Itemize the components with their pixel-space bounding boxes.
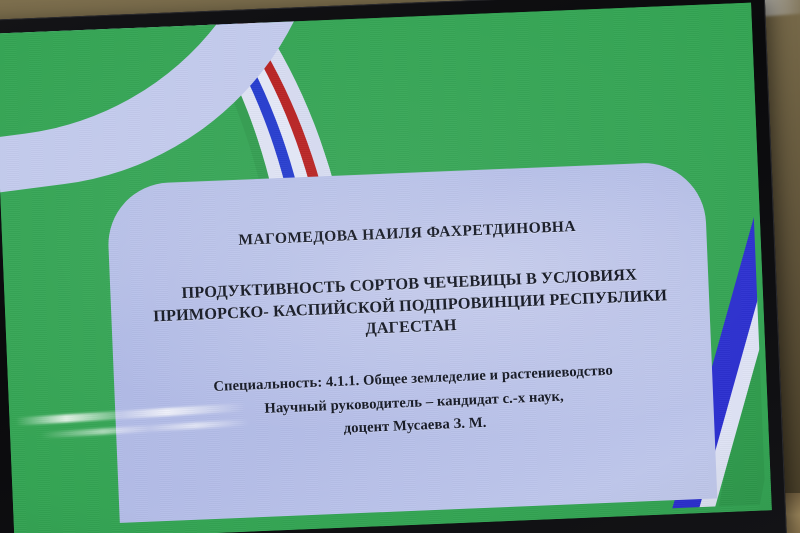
presentation-slide: МАГОМЕДОВА НАИЛЯ ФАХРЕТДИНОВНА ПРОДУКТИВ… <box>0 3 772 533</box>
tv-screen: МАГОМЕДОВА НАИЛЯ ФАХРЕТДИНОВНА ПРОДУКТИВ… <box>0 3 772 533</box>
slide-text-block: МАГОМЕДОВА НАИЛЯ ФАХРЕТДИНОВНА ПРОДУКТИВ… <box>108 213 714 451</box>
slide-title: ПРОДУКТИВНОСТЬ СОРТОВ ЧЕЧЕВИЦЫ В УСЛОВИЯ… <box>136 262 684 349</box>
television: МАГОМЕДОВА НАИЛЯ ФАХРЕТДИНОВНА ПРОДУКТИВ… <box>0 0 787 533</box>
slide-content-card: МАГОМЕДОВА НАИЛЯ ФАХРЕТДИНОВНА ПРОДУКТИВ… <box>106 161 717 523</box>
room-scene: МАГОМЕДОВА НАИЛЯ ФАХРЕТДИНОВНА ПРОДУКТИВ… <box>0 0 800 533</box>
